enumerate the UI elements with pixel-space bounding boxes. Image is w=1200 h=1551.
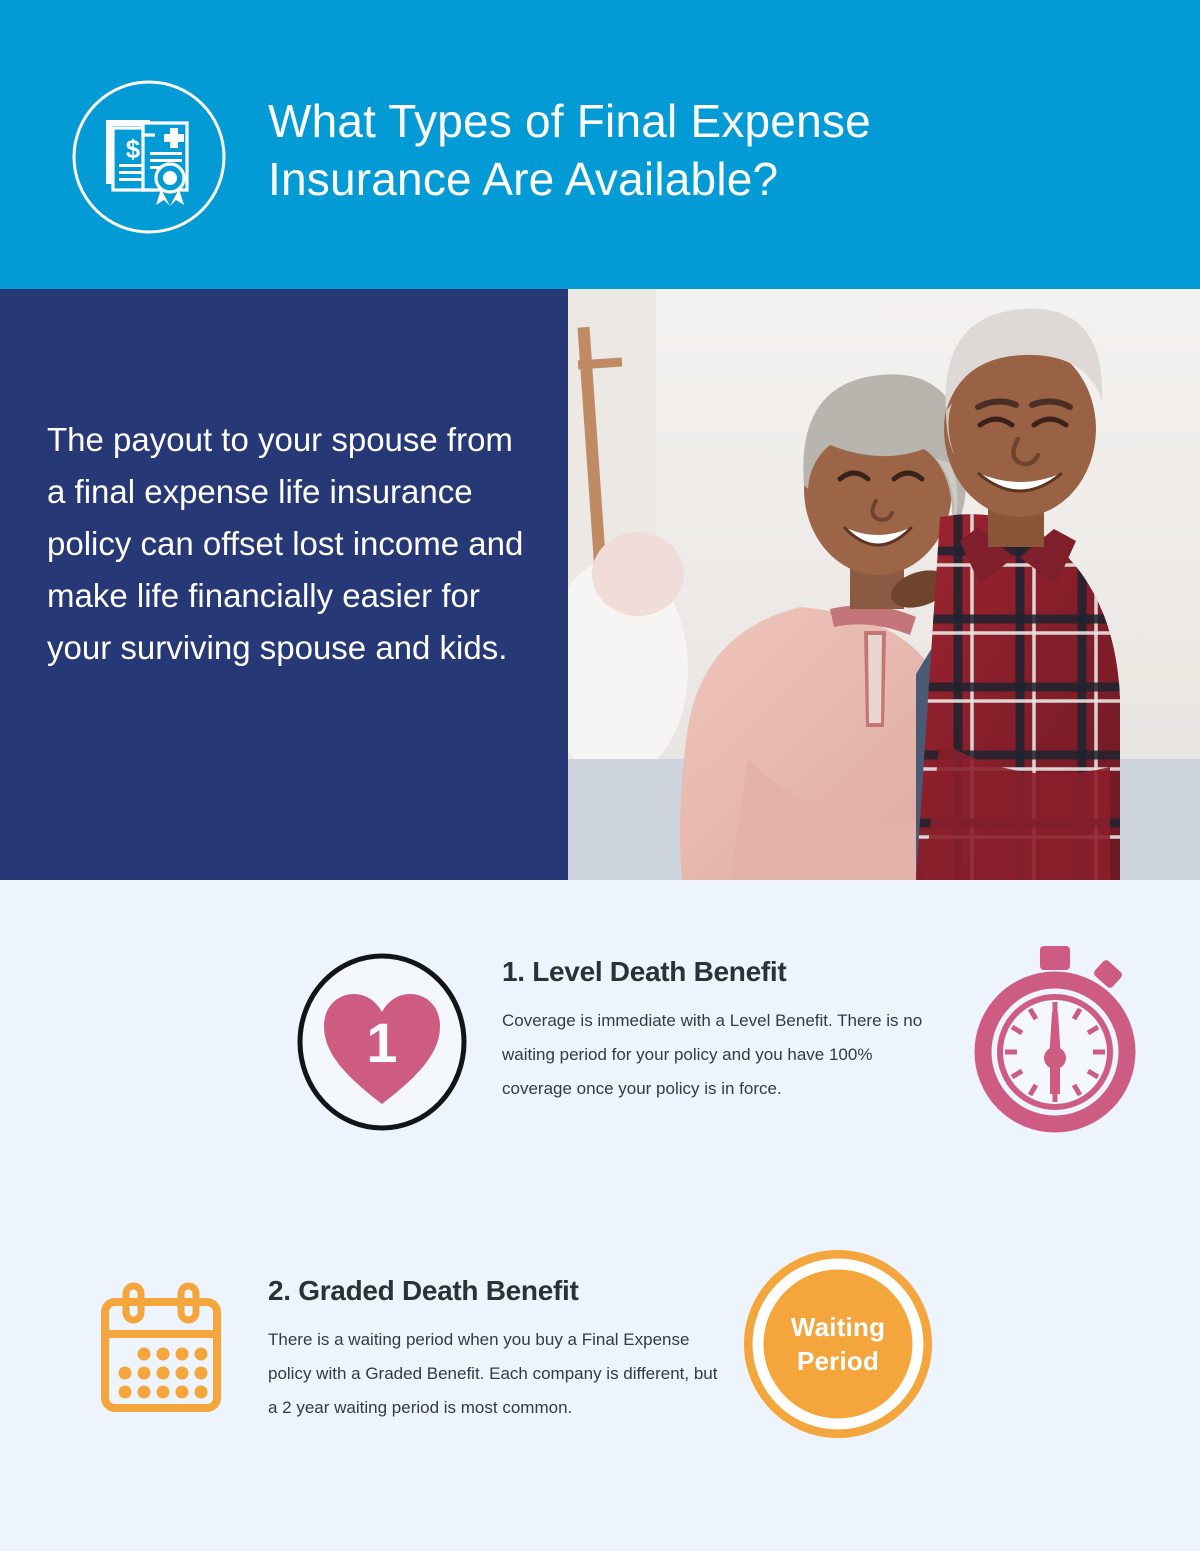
calendar-icon [100,1282,222,1414]
insurance-document-certificate-icon: $ [70,78,228,236]
heart-number-one-icon: 1 [296,952,468,1132]
page-title-line1: What Types of Final Expense [268,92,968,150]
svg-text:1: 1 [366,1011,397,1074]
benefit-2-text-block: 2. Graded Death Benefit There is a waiti… [268,1273,720,1425]
infographic-page: $ What Types of Final Expense [0,0,1200,1551]
intro-band: The payout to your spouse from a final e… [0,289,1200,880]
senior-couple-smiling-photo [568,289,1200,880]
benefit-2-title: 2. Graded Death Benefit [268,1273,720,1309]
header-banner: $ What Types of Final Expense [0,0,1200,289]
benefit-1-title: 1. Level Death Benefit [502,954,942,990]
svg-text:$: $ [126,134,141,164]
stopwatch-icon [962,936,1148,1134]
benefit-2-body: There is a waiting period when you buy a… [268,1323,720,1425]
page-title: What Types of Final Expense Insurance Ar… [268,92,968,208]
intro-paragraph: The payout to your spouse from a final e… [47,414,527,674]
page-title-line2: Insurance Are Available? [268,150,968,208]
waiting-period-badge [742,1248,934,1440]
benefit-1-text-block: 1. Level Death Benefit Coverage is immed… [502,954,942,1106]
intro-navy-panel: The payout to your spouse from a final e… [0,289,568,880]
benefit-1-body: Coverage is immediate with a Level Benef… [502,1004,942,1106]
